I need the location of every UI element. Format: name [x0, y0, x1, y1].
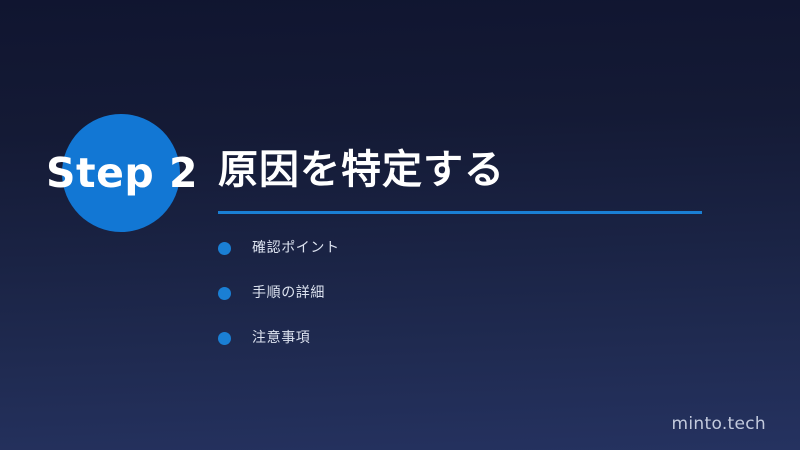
list-item: 注意事項: [218, 328, 340, 348]
watermark: minto.tech: [672, 414, 766, 434]
list-item-label: 確認ポイント: [252, 238, 340, 258]
bullet-list: 確認ポイント 手順の詳細 注意事項: [218, 238, 340, 373]
list-item: 確認ポイント: [218, 238, 340, 258]
list-item-label: 注意事項: [252, 328, 310, 348]
bullet-dot-icon: [218, 242, 231, 255]
bullet-dot-icon: [218, 287, 231, 300]
list-item: 手順の詳細: [218, 283, 340, 303]
title-divider: [218, 211, 702, 214]
bullet-dot-icon: [218, 332, 231, 345]
list-item-label: 手順の詳細: [252, 283, 325, 303]
slide-canvas: Step 2 原因を特定する 確認ポイント 手順の詳細 注意事項 minto.t…: [0, 0, 800, 450]
step-badge-label: Step 2: [46, 150, 198, 196]
slide-title: 原因を特定する: [218, 145, 505, 195]
